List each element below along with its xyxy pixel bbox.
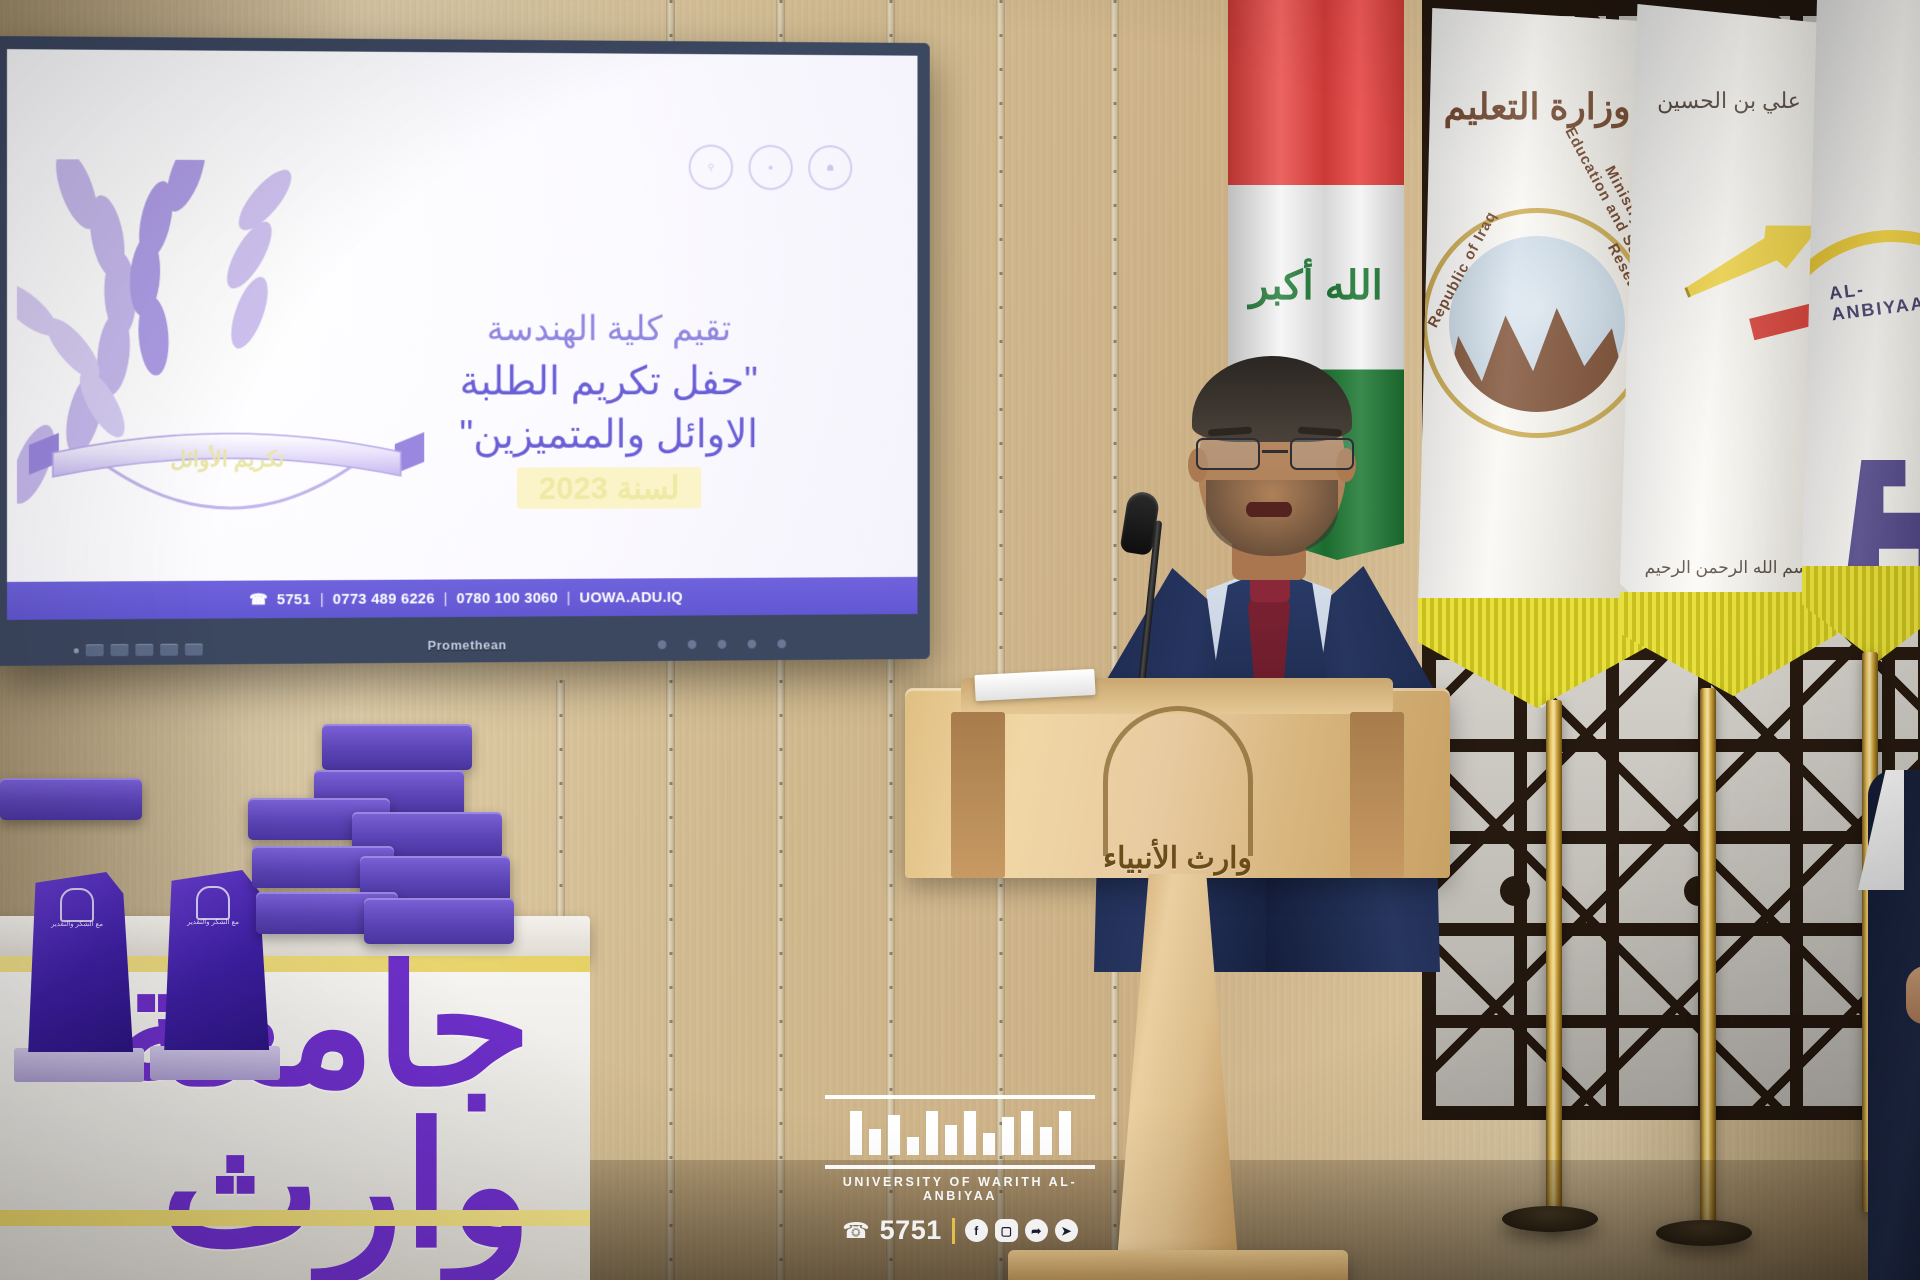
logo-university-icon: ☗	[808, 145, 852, 190]
instagram-icon[interactable]: ▢	[995, 1219, 1018, 1242]
display-screen[interactable]: تكريم الأوائل ⚲ ● ☗ تقيم كلية الهندسة "ح…	[7, 49, 917, 620]
phone-icon: ☎	[842, 1218, 869, 1244]
presentation-slide: تكريم الأوائل ⚲ ● ☗ تقيم كلية الهندسة "ح…	[7, 49, 917, 620]
source-button[interactable]	[748, 640, 757, 649]
crest-arch	[1103, 706, 1253, 856]
eyeglasses	[1192, 438, 1358, 472]
skirt-band	[0, 1210, 590, 1226]
slide-website: UOWA.ADU.IQ	[579, 589, 682, 606]
attendant-person	[1844, 770, 1920, 1280]
kufic-stroke	[907, 1137, 919, 1155]
display-brand-label: Promethean	[428, 637, 507, 652]
slide-logo-row: ⚲ ● ☗	[689, 145, 853, 191]
university-name-label: UNIVERSITY OF WARITH AL-ANBIYAA	[825, 1175, 1095, 1203]
port-indicator-led	[74, 648, 79, 653]
gift-box[interactable]	[0, 778, 142, 820]
phone-icon: ☎	[249, 590, 268, 608]
kufic-stroke	[945, 1125, 957, 1155]
usb-port[interactable]	[111, 644, 129, 656]
slide-line-2: "حفل تكريم الطلبة	[356, 355, 860, 409]
slide-phone-1: 0773 489 6226	[333, 590, 435, 607]
hdmi-port[interactable]	[86, 644, 104, 656]
twitter-icon[interactable]: ➦	[1025, 1219, 1048, 1242]
kufic-stroke	[1002, 1117, 1014, 1155]
slide-line-1: تقيم كلية الهندسة	[356, 304, 860, 354]
display-controls[interactable]	[658, 639, 786, 649]
plaque-base	[14, 1048, 144, 1082]
watermark-phone: 5751	[880, 1215, 942, 1246]
slide-phone-2: 0780 100 3060	[457, 589, 558, 606]
kufic-stroke	[1040, 1127, 1052, 1155]
ribbon-text: تكريم الأوائل	[170, 444, 284, 472]
volume-up-button[interactable]	[718, 640, 727, 649]
slide-text-block: تقيم كلية الهندسة "حفل تكريم الطلبة الاو…	[356, 304, 860, 509]
channel-watermark: UNIVERSITY OF WARITH AL-ANBIYAA ☎ 5751 f…	[825, 1095, 1095, 1246]
beard	[1206, 480, 1338, 556]
kufic-stroke	[1059, 1111, 1071, 1155]
flag-pole	[1546, 700, 1562, 1230]
podium-university-crest: وارث الأنبياء	[1084, 704, 1272, 876]
mouth	[1246, 502, 1292, 517]
kufic-glyphs	[850, 1109, 1071, 1155]
slide-contact-bar: ☎ 5751 | 0773 489 6226 | 0780 100 3060 |…	[7, 577, 917, 620]
telegram-icon[interactable]: ➤	[1055, 1219, 1078, 1242]
social-icons[interactable]: f ▢ ➦ ➤	[965, 1219, 1078, 1242]
separator: |	[567, 589, 571, 606]
podium-top-panel: وارث الأنبياء	[905, 688, 1450, 878]
lens-left	[1196, 438, 1260, 470]
volume-down-button[interactable]	[688, 640, 697, 649]
kufic-stroke	[926, 1111, 938, 1155]
logo-college-icon: ⚲	[689, 145, 733, 190]
gift-box[interactable]	[322, 724, 472, 770]
watermark-contact: ☎ 5751 f ▢ ➦ ➤	[825, 1215, 1095, 1246]
kufic-stroke	[888, 1115, 900, 1155]
slide-line-3: الاوائل والمتميزين"	[356, 408, 860, 462]
podium-stem	[1118, 874, 1238, 1254]
promethean-display[interactable]: تكريم الأوائل ⚲ ● ☗ تقيم كلية الهندسة "ح…	[0, 36, 930, 666]
crest-text: وارث الأنبياء	[1103, 841, 1252, 876]
power-button[interactable]	[658, 640, 667, 649]
kufic-stroke	[1021, 1111, 1033, 1155]
slide-year-badge: لسنة 2023	[517, 467, 701, 509]
gift-box[interactable]	[364, 898, 514, 944]
photo-scene: تكريم الأوائل ⚲ ● ☗ تقيم كلية الهندسة "ح…	[0, 0, 1920, 1280]
slide-phone-short: 5751	[277, 591, 311, 608]
plaque-base	[150, 1046, 280, 1080]
flag-fold-shading	[1802, 0, 1920, 660]
display-ports[interactable]	[74, 644, 203, 657]
separator: |	[444, 590, 448, 607]
attendant-hand	[1906, 966, 1920, 1024]
logo-foot-icon: ●	[749, 145, 793, 190]
podium-base	[1008, 1250, 1348, 1280]
kufic-stroke	[964, 1111, 976, 1155]
university-kufic-logo	[825, 1095, 1095, 1169]
lens-right	[1290, 438, 1354, 470]
kufic-stroke	[869, 1129, 881, 1155]
menu-button[interactable]	[777, 639, 786, 648]
podium-accent-right	[1350, 712, 1404, 878]
divider	[952, 1218, 955, 1244]
flag-university: AL-ANBIYAA	[1802, 0, 1920, 660]
glasses-bridge	[1262, 450, 1288, 453]
podium-accent-left	[951, 712, 1005, 878]
kufic-stroke	[850, 1111, 862, 1155]
usb-port[interactable]	[135, 644, 153, 656]
flag-pole	[1700, 688, 1716, 1233]
vga-port[interactable]	[160, 644, 178, 656]
facebook-icon[interactable]: f	[965, 1219, 988, 1242]
audio-port[interactable]	[185, 644, 203, 656]
separator: |	[320, 591, 324, 608]
kufic-stroke	[983, 1133, 995, 1155]
